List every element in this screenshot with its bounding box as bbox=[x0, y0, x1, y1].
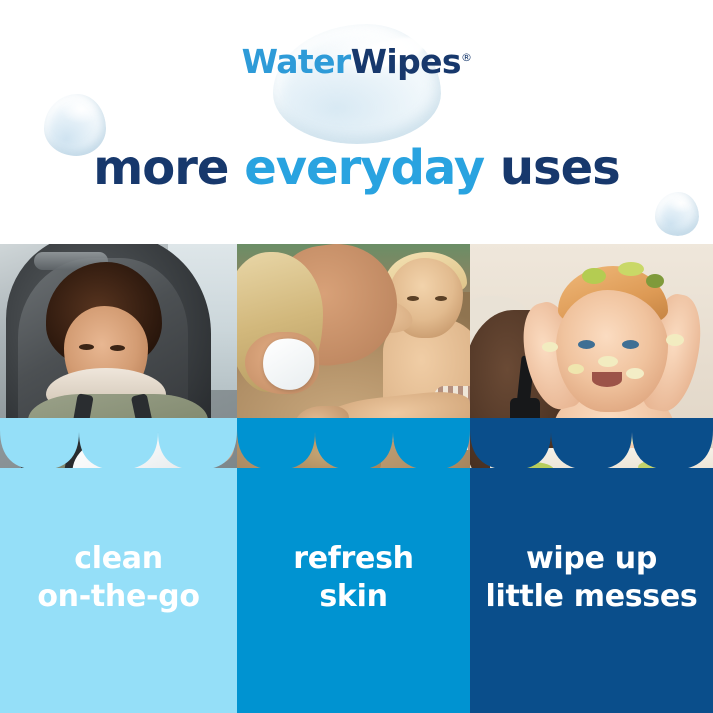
photo-messy-baby bbox=[470, 244, 713, 476]
caption-line-2: skin bbox=[237, 578, 470, 616]
panel-clean-on-the-go: clean on-the-go bbox=[0, 244, 237, 713]
page-title: more everyday uses bbox=[0, 140, 713, 196]
panel-caption: refresh skin bbox=[237, 540, 470, 615]
header-section: WaterWipes® more everyday uses bbox=[0, 0, 713, 244]
caption-line-2: on-the-go bbox=[0, 578, 237, 616]
brand-logo: WaterWipes® bbox=[0, 42, 713, 81]
headline-word-more: more bbox=[93, 140, 228, 196]
panel-refresh-skin: refresh skin bbox=[237, 244, 470, 713]
caption-line-2: little messes bbox=[470, 578, 713, 616]
use-case-panels: clean on-the-go bbox=[0, 244, 713, 713]
caption-line-1: wipe up bbox=[470, 540, 713, 578]
registered-trademark-symbol: ® bbox=[461, 51, 471, 64]
waterwipes-infographic: WaterWipes® more everyday uses bbox=[0, 0, 713, 713]
water-droplet-icon bbox=[655, 192, 699, 236]
logo-word-water: Water bbox=[242, 42, 351, 81]
photo-car-seat bbox=[0, 244, 237, 476]
logo-word-wipes: Wipes bbox=[351, 42, 461, 81]
headline-word-uses: uses bbox=[500, 140, 620, 196]
panel-caption: wipe up little messes bbox=[470, 540, 713, 615]
panel-caption: clean on-the-go bbox=[0, 540, 237, 615]
caption-line-1: refresh bbox=[237, 540, 470, 578]
photo-beach-feet bbox=[237, 244, 470, 476]
panel-wipe-up-little-messes: wipe up little messes bbox=[470, 244, 713, 713]
caption-line-1: clean bbox=[0, 540, 237, 578]
headline-word-everyday: everyday bbox=[244, 140, 484, 196]
